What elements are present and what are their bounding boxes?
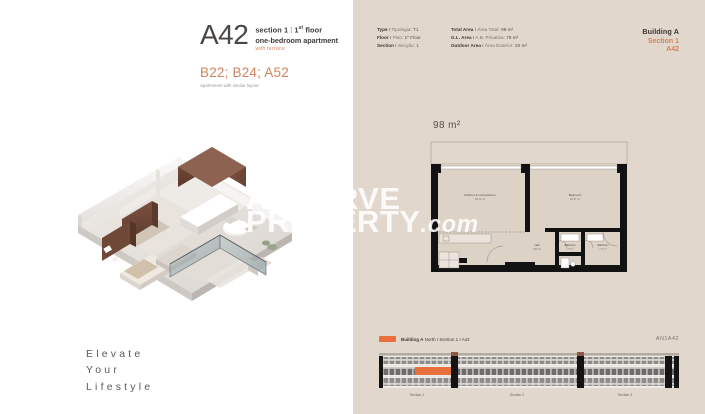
elevation-highlight-unit [415, 367, 451, 375]
legend: Building A North I Section 1 I A42 [379, 336, 470, 342]
section-floor-line: section 1|1st floor [255, 25, 338, 34]
spec-label: Total Area [451, 27, 473, 32]
elevation-section-label-2: Section 2 [510, 393, 524, 397]
building-unit: A42 [642, 46, 679, 53]
elevation-floor-1 [379, 377, 679, 388]
floor-plan-svg: Kitchen & Living Room 38.12 m² Bedroom 2… [425, 140, 635, 275]
spec-label-pt: Área Total: [477, 27, 501, 32]
legend-label-bold: Building A [401, 337, 423, 342]
with-terrace-note: with terrace [255, 46, 338, 52]
legend-color-swatch [379, 336, 396, 342]
spec-label-pt: A.B. Privativa: [475, 35, 506, 40]
spec-row-gl-area: G.L. Area I A.B. Privativa: 78 m² [451, 35, 527, 40]
building-name: Building A [642, 27, 679, 36]
spec-row-section: Section I Secção: 1 [377, 43, 421, 48]
spec-value: 1º Floor [405, 35, 421, 40]
brochure-sheet: A42 section 1|1st floor one-bedroom apar… [0, 0, 705, 414]
similar-unit-codes: B22; B24; A52 [200, 65, 350, 80]
elevation-svg: Section 1 Section 2 Section 3 [377, 352, 681, 404]
separator-glyph: | [290, 25, 292, 34]
elevation-section-label-3: Section 3 [618, 393, 632, 397]
elevation-section-labels: Section 1 Section 2 Section 3 [410, 393, 632, 397]
spec-label: Outdoor Area [451, 43, 481, 48]
room-area-hall: 6.80 m² [533, 248, 541, 251]
left-panel: A42 section 1|1st floor one-bedroom apar… [0, 0, 353, 414]
plan-terrace [431, 142, 627, 164]
tagline-line-2: Your [86, 362, 153, 378]
spec-label-pt: Área Exterior: [485, 43, 515, 48]
building-elevation-key: Section 1 Section 2 Section 3 [377, 352, 681, 404]
spec-row-floor: Floor I Piso: 1º Floor [377, 35, 421, 40]
tagline-line-1: Elevate [86, 346, 153, 362]
spec-label-pt: Tipologia: [392, 27, 414, 32]
isometric-render-svg [60, 125, 310, 305]
room-label-bedroom: Bedroom [569, 193, 582, 197]
spec-value: 1 [416, 43, 419, 48]
spec-row-outdoor-area: Outdoor Area I Área Exterior: 20 m² [451, 43, 527, 48]
room-label-living: Kitchen & Living Room [464, 193, 496, 197]
floor-word: floor [303, 25, 322, 34]
spec-row-type: Type I Tipologia: T1 [377, 27, 421, 32]
elevation-floor-2 [379, 366, 679, 377]
spec-row-total-area: Total Area I Área Total: 98 m² [451, 27, 527, 32]
elevation-section-label-1: Section 1 [410, 393, 424, 397]
room-label-bath-2: Bathroom [598, 244, 609, 247]
spec-value: 98 m² [501, 27, 513, 32]
building-identifier-block: Building A Section 1 A42 [642, 27, 679, 53]
room-area-bedroom: 20.37 m² [570, 197, 580, 201]
spec-label-pt: Secção: [398, 43, 416, 48]
room-label-bath-1: Bathroom [565, 244, 576, 247]
legend-label: Building A North I Section 1 I A42 [401, 337, 470, 342]
floor-plan: Kitchen & Living Room 38.12 m² Bedroom 2… [425, 140, 635, 275]
title-row: A42 section 1|1st floor one-bedroom apar… [200, 22, 350, 52]
apartment-type: one-bedroom apartment [255, 36, 338, 45]
room-label-hall: Hall [535, 243, 540, 247]
tagline-line-3: Lifestyle [86, 379, 153, 395]
title-meta: section 1|1st floor one-bedroom apartmen… [255, 22, 338, 52]
elevation-floor-3 [379, 356, 679, 366]
legend-label-rest: North I Section 1 I A42 [423, 337, 469, 342]
spec-value: T1 [413, 27, 418, 32]
spec-column-left: Type I Tipologia: T1 Floor I Piso: 1º Fl… [377, 27, 421, 48]
room-area-bath-1: 4.48 m² [566, 248, 574, 251]
plan-area-label: 98 m² [433, 120, 461, 131]
spec-value: 20 m² [515, 43, 527, 48]
building-section: Section 1 [642, 38, 679, 45]
spec-label: Section [377, 43, 394, 48]
tagline: Elevate Your Lifestyle [86, 346, 153, 395]
section-label: section 1 [255, 25, 288, 34]
isometric-render [60, 125, 310, 305]
spec-label: Type [377, 27, 388, 32]
spec-label-pt: Piso: [393, 35, 405, 40]
spec-column-right: Total Area I Área Total: 98 m² G.L. Area… [451, 27, 527, 48]
room-area-bath-2: 3.90 m² [599, 248, 607, 251]
title-block: A42 section 1|1st floor one-bedroom apar… [200, 22, 350, 88]
specifications-bar: Type I Tipologia: T1 Floor I Piso: 1º Fl… [377, 27, 527, 48]
sheet-code: AN1A42 [656, 336, 679, 342]
spec-value: 78 m² [506, 35, 518, 40]
right-panel: Type I Tipologia: T1 Floor I Piso: 1º Fl… [353, 0, 705, 414]
room-area-living: 38.12 m² [475, 197, 485, 201]
spec-label: Floor [377, 35, 389, 40]
unit-code: A42 [200, 22, 248, 49]
similar-layout-note: Apartments with similar layout [200, 83, 350, 88]
spec-label: G.L. Area [451, 35, 472, 40]
